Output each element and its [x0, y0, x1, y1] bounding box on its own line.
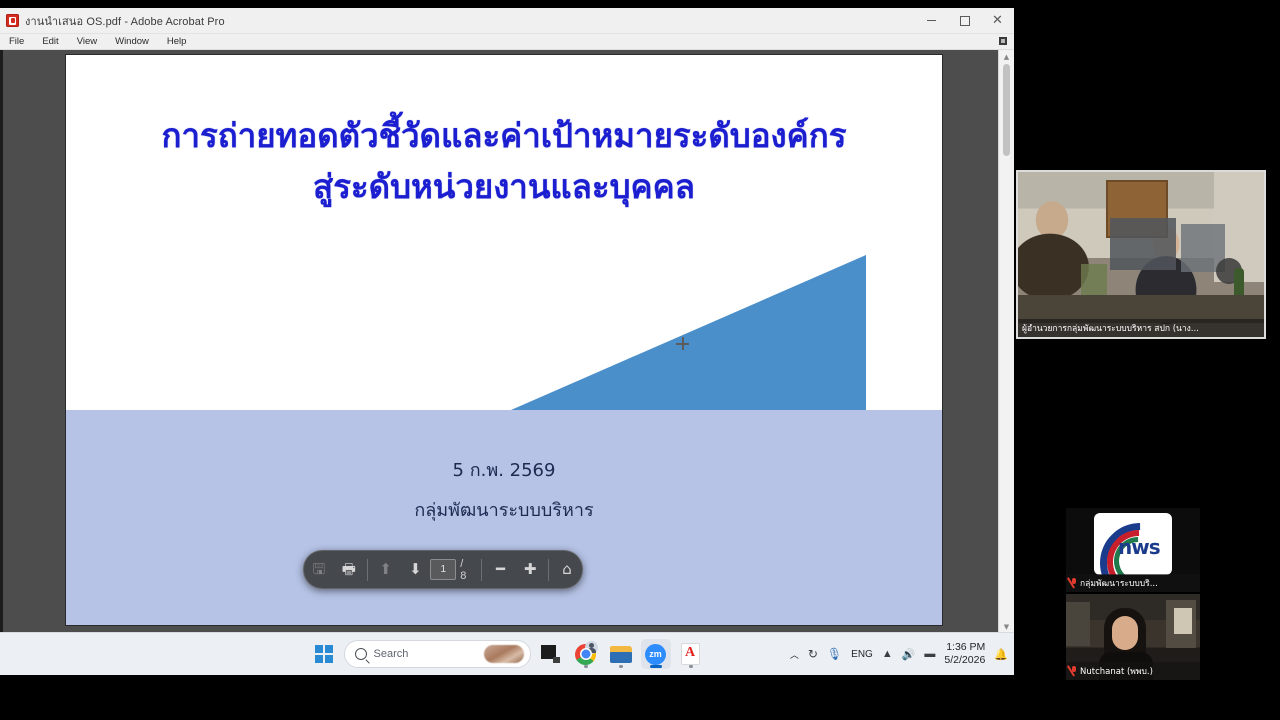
printer-icon[interactable]: 🖶: [334, 556, 364, 584]
maximize-button[interactable]: [948, 8, 981, 33]
taskbar-app-dark-monitor[interactable]: [536, 639, 566, 669]
scroll-up-arrow-icon[interactable]: ▲: [999, 50, 1014, 63]
microphone-icon[interactable]: 🎙: [827, 647, 842, 661]
slide-title: การถ่ายทอดตัวชี้วัดและค่าเป้าหมายระดับอง…: [106, 110, 902, 212]
window-titlebar[interactable]: งานนำเสนอ OS.pdf - Adobe Acrobat Pro ✕: [0, 8, 1014, 34]
taskbar-app-zoom[interactable]: zm: [641, 639, 671, 669]
pdf-document-icon: [6, 14, 19, 27]
nws-logo: nws: [1094, 513, 1172, 575]
slide-title-line-2: สู่ระดับหน่วยงานและบุคคล: [106, 161, 902, 212]
pdf-viewer: การถ่ายทอดตัวชี้วัดและค่าเป้าหมายระดับอง…: [0, 50, 1014, 633]
active-indicator: [650, 665, 662, 668]
tile-background-shelf: [1110, 218, 1176, 270]
clock-date: 5/2/2026: [944, 654, 985, 667]
scrollbar-thumb[interactable]: [1003, 64, 1010, 156]
menu-item-view[interactable]: View: [74, 35, 100, 48]
taskbar-app-chrome[interactable]: [571, 639, 601, 669]
chevron-up-icon[interactable]: ︿: [790, 648, 799, 661]
start-button[interactable]: [309, 639, 339, 669]
toolbar-divider-1: [367, 559, 368, 581]
search-icon: [355, 648, 367, 660]
logo-wordmark: nws: [1118, 535, 1160, 559]
toolbar-divider-3: [548, 559, 549, 581]
participant-face: [1112, 616, 1138, 650]
shared-desktop: งานนำเสนอ OS.pdf - Adobe Acrobat Pro ✕ F…: [0, 8, 1014, 675]
windows-taskbar: Search zm: [0, 632, 1014, 675]
menu-item-edit[interactable]: Edit: [39, 35, 61, 48]
arrow-up-icon[interactable]: ⬆: [371, 556, 401, 584]
slide-date: 5 ก.พ. 2569: [66, 455, 942, 484]
running-indicator: [619, 665, 623, 668]
battery-icon[interactable]: ▬: [924, 648, 935, 660]
document-close-icon[interactable]: [999, 37, 1007, 45]
windows-logo-icon: [315, 645, 333, 663]
system-tray: ︿ ↻ 🎙 ENG ▲ 🔊 ▬ 1:36 PM 5/2/2026 🔔: [790, 641, 1008, 667]
notification-bell-icon[interactable]: 🔔: [994, 648, 1008, 661]
participant-name-label: Nutchanat (พพบ.): [1066, 662, 1200, 680]
search-input[interactable]: Search: [344, 640, 531, 668]
menu-bar: File Edit View Window Help: [0, 34, 1014, 50]
chrome-icon: [575, 644, 596, 665]
menu-item-help[interactable]: Help: [164, 35, 190, 48]
clock-time: 1:36 PM: [944, 641, 985, 654]
vertical-scrollbar[interactable]: ▲ ▼: [998, 50, 1014, 633]
save-disk-icon[interactable]: 🖫: [304, 556, 334, 584]
viewer-canvas[interactable]: การถ่ายทอดตัวชี้วัดและค่าเป้าหมายระดับอง…: [3, 50, 1014, 633]
minimize-button[interactable]: [915, 8, 948, 33]
search-placeholder: Search: [374, 648, 409, 660]
page-total-label: / 8: [460, 558, 472, 582]
participant-name-text: ผู้อำนวยการกลุ่มพัฒนาระบบบริหาร สปก (นาง…: [1022, 321, 1199, 335]
acrobat-icon: [681, 643, 700, 665]
close-button[interactable]: ✕: [981, 8, 1014, 33]
arrow-down-icon[interactable]: ⬇: [401, 556, 431, 584]
video-tile-participant[interactable]: Nutchanat (พพบ.): [1066, 594, 1200, 680]
participant-name-text: Nutchanat (พพบ.): [1080, 664, 1153, 678]
plus-icon[interactable]: ✚: [515, 556, 545, 584]
slide-title-line-1: การถ่ายทอดตัวชี้วัดและค่าเป้าหมายระดับอง…: [106, 110, 902, 161]
tile-background-papers: [1174, 608, 1192, 634]
toolbar-divider-2: [481, 559, 482, 581]
chrome-profile-badge-icon: [585, 641, 598, 654]
running-indicator: [584, 665, 588, 668]
running-indicator: [689, 665, 693, 668]
pdf-page[interactable]: การถ่ายทอดตัวชี้วัดและค่าเป้าหมายระดับอง…: [66, 55, 942, 625]
home-icon[interactable]: ⌂: [552, 556, 582, 584]
video-tile-speaker[interactable]: ผู้อำนวยการกลุ่มพัฒนาระบบบริหาร สปก (นาง…: [1016, 170, 1266, 339]
mic-muted-icon: [1070, 666, 1077, 676]
menu-item-window[interactable]: Window: [112, 35, 152, 48]
acrobat-window: งานนำเสนอ OS.pdf - Adobe Acrobat Pro ✕ F…: [0, 8, 1014, 633]
menu-item-file[interactable]: File: [6, 35, 27, 48]
speaker-icon[interactable]: 🔊: [902, 648, 916, 661]
refresh-sync-icon[interactable]: ↻: [808, 647, 818, 661]
mic-muted-icon: [1070, 578, 1077, 588]
tile-background-plant: [1081, 264, 1107, 296]
page-number-input[interactable]: 1: [430, 559, 456, 580]
minus-icon[interactable]: ━: [485, 556, 515, 584]
wifi-icon[interactable]: ▲: [882, 648, 893, 660]
window-title: งานนำเสนอ OS.pdf - Adobe Acrobat Pro: [25, 12, 225, 30]
participant-name-text: กลุ่มพัฒนาระบบบริ...: [1080, 576, 1158, 590]
zoom-icon: zm: [645, 644, 666, 665]
taskbar-app-file-explorer[interactable]: [606, 639, 636, 669]
participant-name-label: กลุ่มพัฒนาระบบบริ...: [1066, 574, 1200, 592]
video-tile-column: ผู้อำนวยการกลุ่มพัฒนาระบบบริหาร สปก (นาง…: [1014, 0, 1280, 720]
window-controls: ✕: [915, 8, 1014, 33]
slide-organization: กลุ่มพัฒนาระบบบริหาร: [66, 495, 942, 524]
participant-name-label: ผู้อำนวยการกลุ่มพัฒนาระบบบริหาร สปก (นาง…: [1018, 319, 1264, 337]
pdf-floating-toolbar: 🖫 🖶 ⬆ ⬇ 1 / 8 ━ ✚ ⌂: [303, 550, 583, 589]
dark-monitor-icon: [541, 645, 560, 663]
taskbar-app-acrobat[interactable]: [676, 639, 706, 669]
tile-background-monitor-left: [1066, 602, 1090, 646]
language-indicator[interactable]: ENG: [851, 649, 873, 660]
clock[interactable]: 1:36 PM 5/2/2026: [944, 641, 985, 667]
video-tile-logo[interactable]: nws กลุ่มพัฒนาระบบบริ...: [1066, 508, 1200, 592]
file-explorer-icon: [610, 646, 632, 663]
search-thumbnail-image: [484, 645, 524, 663]
